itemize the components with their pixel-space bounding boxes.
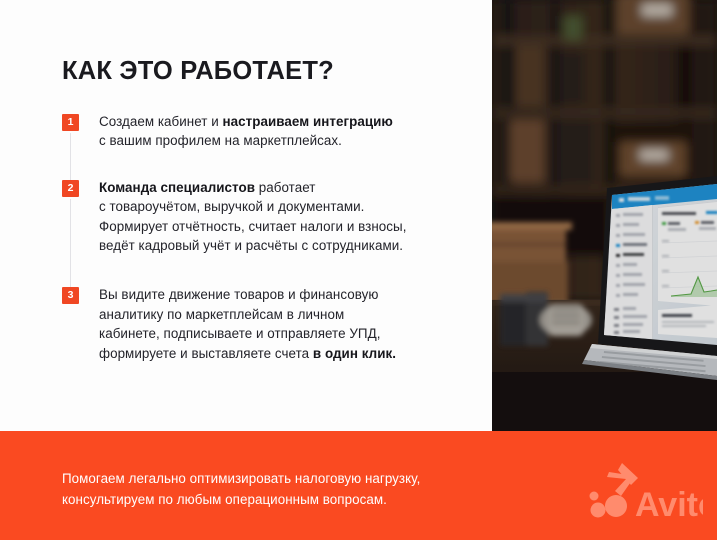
banner-text-line2: консультируем по любым операционным вопр… <box>62 492 387 507</box>
step-text-line1: Вы видите движение товаров и финансовую <box>99 287 378 302</box>
step-text-line1-bold: Команда специалистов <box>99 180 255 195</box>
step-text-line1-plain: работает <box>255 180 315 195</box>
step-number-badge: 2 <box>62 180 79 197</box>
bottom-banner: Помогаем легально оптимизировать налогов… <box>0 431 717 540</box>
step-text-line4-bold: в один клик. <box>313 346 396 361</box>
avito-wordmark: Avito <box>635 486 703 524</box>
page-title: КАК ЭТО РАБОТАЕТ? <box>62 57 334 86</box>
step-number-badge: 1 <box>62 114 79 131</box>
banner-text-line1: Помогаем легально оптимизировать налогов… <box>62 471 420 486</box>
warehouse-photo-illustration <box>492 0 717 431</box>
step-number-badge: 3 <box>62 287 79 304</box>
step-text-line4: ведёт кадровый учёт и расчёты с сотрудни… <box>99 238 403 253</box>
step-text-line1-plain: Создаем кабинет и <box>99 114 223 129</box>
content-panel: КАК ЭТО РАБОТАЕТ? 1 Создаем кабинет и на… <box>0 0 492 431</box>
list-item: 2 Команда специалистов работает с товаро… <box>62 178 472 256</box>
step-text-line3: кабинете, подписываете и отправляете УПД… <box>99 326 380 341</box>
step-text: Команда специалистов работает с товароуч… <box>99 178 472 256</box>
step-text-line2: с товароучётом, выручкой и документами. <box>99 199 364 214</box>
steps-list: 1 Создаем кабинет и настраиваем интеграц… <box>62 112 472 363</box>
list-item: 1 Создаем кабинет и настраиваем интеграц… <box>62 112 472 151</box>
list-item: 3 Вы видите движение товаров и финансову… <box>62 285 472 363</box>
step-text-line3: Формирует отчётность, считает налоги и в… <box>99 219 407 234</box>
avito-logo: Avito <box>585 458 703 530</box>
banner-text: Помогаем легально оптимизировать налогов… <box>62 468 420 510</box>
step-connector-line <box>70 199 71 294</box>
step-text-line4-plain: формируете и выставляете счета <box>99 346 313 361</box>
step-text-line1-bold: настраиваем интеграцию <box>223 114 393 129</box>
top-area: КАК ЭТО РАБОТАЕТ? 1 Создаем кабинет и на… <box>0 0 717 431</box>
slide-root: КАК ЭТО РАБОТАЕТ? 1 Создаем кабинет и на… <box>0 0 717 540</box>
step-text: Вы видите движение товаров и финансовую … <box>99 285 472 363</box>
avito-logo-icon: Avito <box>585 458 703 530</box>
step-text-line2: аналитику по маркетплейсам в личном <box>99 307 344 322</box>
step-text: Создаем кабинет и настраиваем интеграцию… <box>99 112 472 151</box>
step-text-line2: с вашим профилем на маркетплейсах. <box>99 133 342 148</box>
warehouse-photo <box>492 0 717 431</box>
